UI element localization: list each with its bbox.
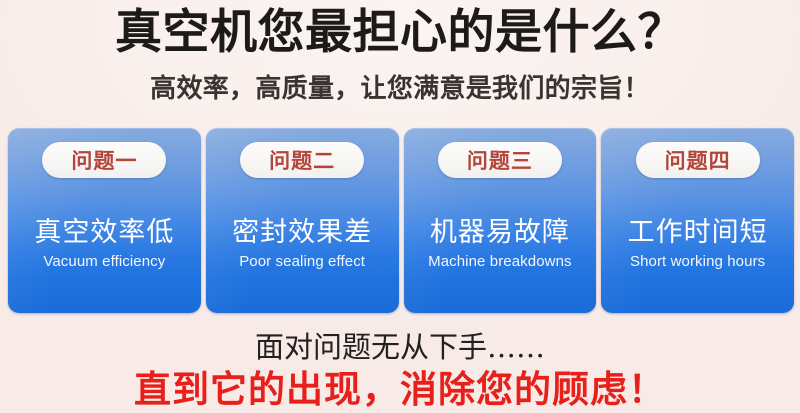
problem-badge-1: 问题一 [42,142,166,178]
problem-card-1[interactable]: 问题一 真空效率低 Vacuum efficiency [8,128,201,313]
problem-badge-2: 问题二 [240,142,364,178]
problem-badge-4: 问题四 [636,142,760,178]
call-to-action-text: 直到它的出现，消除您的顾虑！ [0,366,800,412]
subtitle: 高效率，高质量，让您满意是我们的宗旨！ [0,71,800,107]
problem-title-en: Poor sealing effect [206,252,399,272]
problem-badge-label: 问题四 [665,145,731,175]
problem-badge-label: 问题三 [467,145,533,175]
problem-title-en: Machine breakdowns [404,252,597,272]
problem-title-cn: 密封效果差 [206,216,399,250]
problem-title-cn: 工作时间短 [601,216,794,250]
problem-title-cn: 真空效率低 [8,216,201,250]
page-title: 真空机您最担心的是什么？ [0,2,800,64]
problem-card-4[interactable]: 问题四 工作时间短 Short working hours [601,128,794,313]
promo-poster: 真空机您最担心的是什么？ 高效率，高质量，让您满意是我们的宗旨！ 问题一 真空效… [0,0,800,413]
problem-card-list: 问题一 真空效率低 Vacuum efficiency 问题二 密封效果差 Po… [8,128,794,313]
problem-title-en: Short working hours [601,252,794,272]
problem-badge-label: 问题一 [71,145,137,175]
problem-title-en: Vacuum efficiency [8,252,201,272]
problem-badge-3: 问题三 [438,142,562,178]
problem-card-2[interactable]: 问题二 密封效果差 Poor sealing effect [206,128,399,313]
problem-title-cn: 机器易故障 [404,216,597,250]
problem-card-3[interactable]: 问题三 机器易故障 Machine breakdowns [404,128,597,313]
tagline-text: 面对问题无从下手…… [0,328,800,366]
problem-badge-label: 问题二 [269,145,335,175]
